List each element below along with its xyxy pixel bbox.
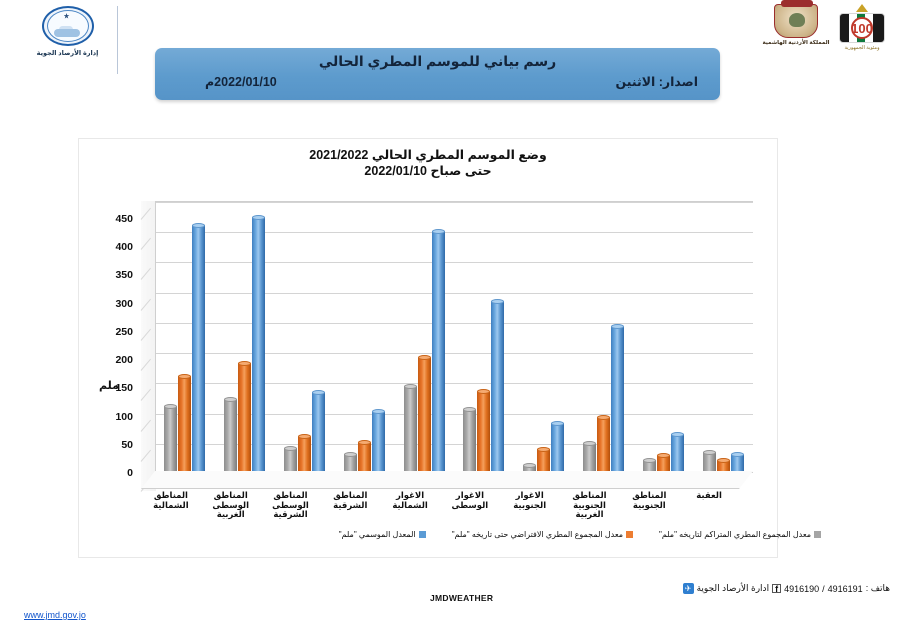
bar-cap <box>344 452 357 457</box>
bar-group <box>700 199 745 471</box>
bar-body <box>703 452 716 471</box>
y-axis-tick: 100 <box>93 411 133 423</box>
website-link[interactable]: www.jmd.gov.jo <box>24 610 86 620</box>
phone-label: هاتف : <box>866 583 890 594</box>
axis-tick-mark <box>141 329 151 341</box>
legend-item[interactable]: المعدل الموسمي "ملم" <box>339 530 426 539</box>
bar-body <box>551 423 564 471</box>
axis-tick-mark <box>141 389 151 401</box>
axis-tick-mark <box>141 238 151 250</box>
bar-body <box>583 444 596 471</box>
legend-swatch <box>626 531 633 538</box>
bar-cap <box>643 458 656 463</box>
axis-sidewall <box>141 201 156 491</box>
bar[interactable] <box>418 358 431 471</box>
bar-body <box>418 358 431 471</box>
telegram-icon[interactable]: ✈ <box>683 583 694 594</box>
bar[interactable] <box>643 460 656 471</box>
plot-floor <box>141 471 753 489</box>
bar[interactable] <box>671 434 684 471</box>
title-banner: رسم بياني للموسم المطري الحالي اصدار: ال… <box>155 48 720 100</box>
weather-seal-icon <box>42 6 94 46</box>
page-footer: هاتف : 4916191 / 4916190 f ادارة الأرصاد… <box>0 575 900 636</box>
y-axis-tick: 400 <box>93 241 133 253</box>
bar-group <box>162 199 207 471</box>
facebook-icon[interactable]: f <box>772 584 781 593</box>
legend-label: معدل المجموع المطري المتراكم لتاريخه "مل… <box>659 530 811 539</box>
bar[interactable] <box>372 412 385 471</box>
contact-info: هاتف : 4916191 / 4916190 f ادارة الأرصاد… <box>683 583 890 594</box>
bar-body <box>372 412 385 471</box>
bar-body <box>178 376 191 471</box>
bar-body <box>611 327 624 471</box>
legend-label: المعدل الموسمي "ملم" <box>339 530 416 539</box>
legend-item[interactable]: معدل المجموع المطري المتراكم لتاريخه "مل… <box>659 530 821 539</box>
category-label: المناطق الشرقية <box>320 491 380 510</box>
chart-title-line1: وضع الموسم المطري الحالي 2021/2022 <box>79 147 777 163</box>
axis-tick-mark <box>141 359 151 371</box>
y-axis-tick: 450 <box>93 213 133 225</box>
banner-date: 2022/01/10م <box>205 74 277 89</box>
bar-body <box>537 449 550 471</box>
bar-cap <box>703 450 716 455</box>
bar[interactable] <box>238 363 251 471</box>
bar-cap <box>284 446 297 451</box>
axis-tick-mark <box>141 419 151 431</box>
y-axis-tick: 200 <box>93 354 133 366</box>
bar-cap <box>491 299 504 304</box>
bar-cap <box>537 447 550 452</box>
national-logos: 100 ومئوية الجمهورية المملكة الأردنية ال… <box>768 4 890 58</box>
bar[interactable] <box>597 418 610 471</box>
bar-cap <box>252 215 265 220</box>
bar-groups <box>155 199 753 471</box>
y-axis-tick: 0 <box>93 467 133 479</box>
bar[interactable] <box>192 225 205 471</box>
y-axis-tick: 300 <box>93 298 133 310</box>
bar[interactable] <box>358 443 371 471</box>
y-axis: ملم 050100150200250300350400450 <box>79 189 141 489</box>
bar-cap <box>358 440 371 445</box>
bar[interactable] <box>344 454 357 471</box>
bar-cap <box>312 390 325 395</box>
category-label: المناطق الجنوبية الغربية <box>560 491 620 520</box>
bar-body <box>657 456 670 471</box>
arms-caption: المملكة الأردنية الهاشمية <box>762 40 829 46</box>
bar[interactable] <box>312 392 325 471</box>
y-axis-tick: 350 <box>93 269 133 281</box>
banner-title: رسم بياني للموسم المطري الحالي <box>155 53 720 70</box>
jmd-logo: إدارة الأرصاد الجوية <box>18 6 118 74</box>
category-label: المناطق الوسطى الغربية <box>201 491 261 520</box>
chart-title-line2: حتى صباح 2022/01/10 <box>79 163 777 179</box>
bar-cap <box>164 404 177 409</box>
bar[interactable] <box>432 231 445 471</box>
bar[interactable] <box>298 437 311 471</box>
axis-tick-mark <box>141 268 151 280</box>
bar[interactable] <box>463 410 476 471</box>
bar-body <box>192 225 205 471</box>
bar-body <box>477 392 490 471</box>
bar-body <box>491 301 504 471</box>
phone-separator: / <box>822 584 825 594</box>
category-label: المناطق الشمالية <box>141 491 201 510</box>
bar-cap <box>178 374 191 379</box>
bar-body <box>597 418 610 471</box>
flag-badge-icon: 100 <box>839 13 885 43</box>
bar-group <box>222 199 267 471</box>
legend-label: معدل المجموع المطري الافتراضي حتى تاريخه… <box>452 530 623 539</box>
legend-item[interactable]: معدل المجموع المطري الافتراضي حتى تاريخه… <box>452 530 633 539</box>
bar-body <box>252 217 265 471</box>
bar-body <box>671 434 684 471</box>
chart-title: وضع الموسم المطري الحالي 2021/2022 حتى ص… <box>79 147 777 179</box>
bar-cap <box>192 223 205 228</box>
phone-number-1: 4916191 <box>828 584 863 594</box>
bar[interactable] <box>404 386 417 471</box>
bar[interactable] <box>731 455 744 471</box>
axis-tick-mark <box>141 298 151 310</box>
legend-swatch <box>814 531 821 538</box>
page-header: إدارة الأرصاد الجوية 100 ومئوية الجمهوري… <box>0 0 900 120</box>
jmd-logo-caption: إدارة الأرصاد الجوية <box>37 49 99 57</box>
category-label: العقبة <box>679 491 739 501</box>
y-axis-tick: 250 <box>93 326 133 338</box>
bar[interactable] <box>491 301 504 471</box>
plot-area <box>141 201 753 489</box>
bar-cap <box>432 229 445 234</box>
y-axis-tick: 150 <box>93 382 133 394</box>
bar[interactable] <box>284 448 297 471</box>
banner-issue-label: اصدار: الاثنين <box>616 74 698 89</box>
bar[interactable] <box>523 466 536 471</box>
bar[interactable] <box>164 406 177 471</box>
chart-legend: معدل المجموع المطري المتراكم لتاريخه "مل… <box>141 527 821 541</box>
bar-body <box>731 455 744 471</box>
bar-cap <box>671 432 684 437</box>
bar-group <box>282 199 327 471</box>
bar-body <box>238 363 251 471</box>
bar-body <box>298 437 311 471</box>
bar[interactable] <box>551 423 564 471</box>
category-label: الاغوار الجنوبية <box>500 491 560 510</box>
bar-body <box>463 410 476 471</box>
bar-body <box>432 231 445 471</box>
phone-number-2: 4916190 <box>784 584 819 594</box>
bar[interactable] <box>477 392 490 471</box>
axis-tick-mark <box>141 449 151 461</box>
bar[interactable] <box>657 456 670 471</box>
category-label: المناطق الجنوبية <box>619 491 679 510</box>
category-label: المناطق الوسطى الشرقية <box>261 491 321 520</box>
bar-group <box>461 199 506 471</box>
bar-body <box>358 443 371 471</box>
centennial-number: 100 <box>851 17 873 39</box>
bar-cap <box>551 421 564 426</box>
bar-group <box>521 199 566 471</box>
bar-body <box>344 454 357 471</box>
centennial-caption: ومئوية الجمهورية <box>844 45 879 51</box>
bar[interactable] <box>537 449 550 471</box>
centennial-logo: 100 ومئوية الجمهورية <box>834 4 890 58</box>
bar-body <box>284 448 297 471</box>
bar-group <box>342 199 387 471</box>
bar-body <box>164 406 177 471</box>
bar[interactable] <box>611 327 624 471</box>
bar[interactable] <box>224 400 237 471</box>
bar-group <box>641 199 686 471</box>
bar[interactable] <box>178 376 191 471</box>
bar-cap <box>238 361 251 366</box>
bar[interactable] <box>252 217 265 471</box>
axis-tick-mark <box>141 208 151 220</box>
bar[interactable] <box>703 452 716 471</box>
legend-swatch <box>419 531 426 538</box>
bar[interactable] <box>717 461 730 471</box>
category-label: الاغوار الشمالية <box>380 491 440 510</box>
bar[interactable] <box>583 444 596 471</box>
bar-body <box>224 400 237 471</box>
bar-body <box>312 392 325 471</box>
bar-group <box>581 199 626 471</box>
organization-name: ادارة الأرصاد الجوية <box>697 583 769 594</box>
rainfall-chart: وضع الموسم المطري الحالي 2021/2022 حتى ص… <box>78 138 778 558</box>
coat-of-arms-icon <box>774 4 818 38</box>
y-axis-tick: 50 <box>93 439 133 451</box>
bar-cap <box>404 384 417 389</box>
bar-group <box>401 199 446 471</box>
crown-icon <box>856 4 868 12</box>
bar-body <box>404 386 417 471</box>
social-handle: JMDWEATHER <box>430 593 493 603</box>
hashemite-arms-logo: المملكة الأردنية الهاشمية <box>768 4 824 58</box>
category-label: الاغوار الوسطى <box>440 491 500 510</box>
